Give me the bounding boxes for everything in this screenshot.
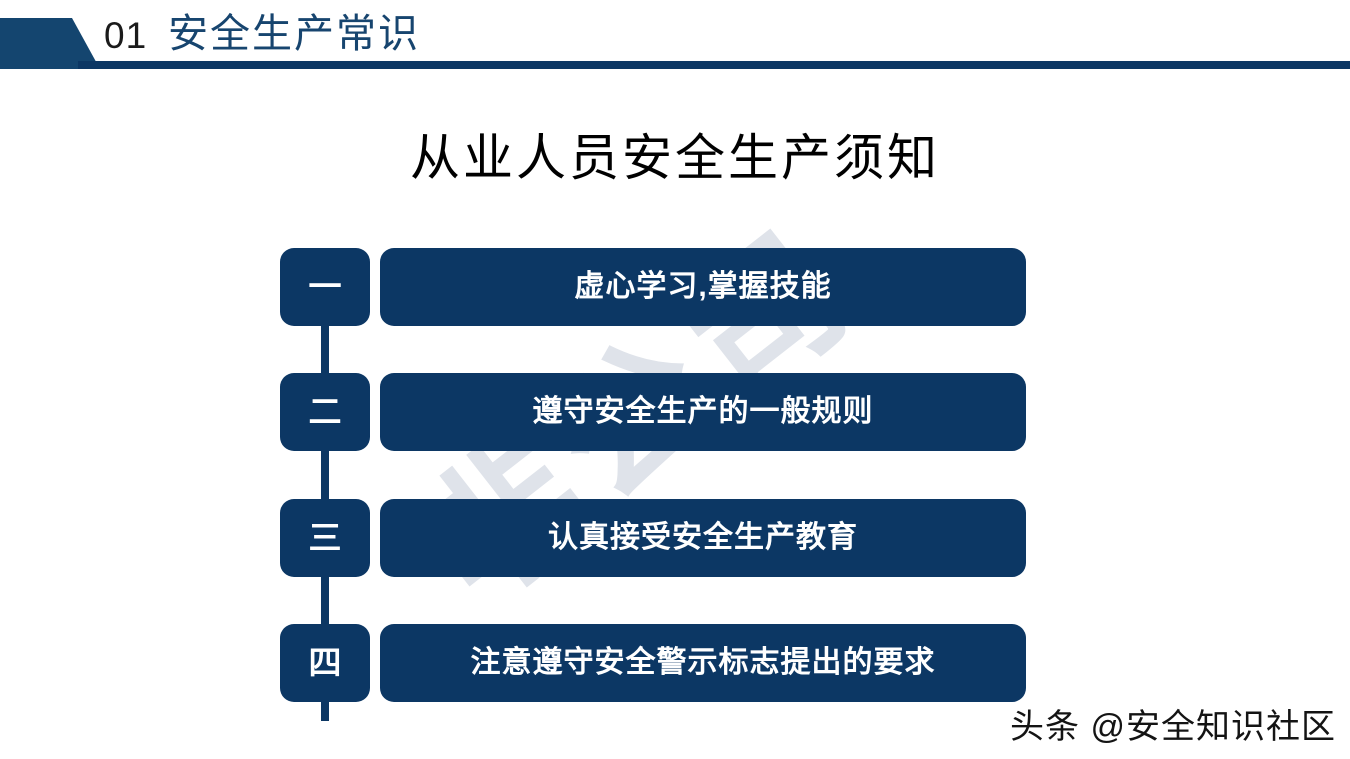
list-item[interactable]: 三 认真接受安全生产教育 bbox=[280, 499, 1026, 577]
list-item-index-badge: 一 bbox=[280, 248, 370, 326]
header-divider-rule bbox=[78, 61, 1350, 69]
header-section-title: 安全生产常识 bbox=[168, 8, 420, 60]
list-item-index-badge: 四 bbox=[280, 624, 370, 702]
connector-line-3 bbox=[321, 569, 329, 631]
connector-line-2 bbox=[321, 444, 329, 506]
slide: 01 安全生产常识 从业人员安全生产须知 非公司 一 虚心学习,掌握技能 二 遵… bbox=[0, 0, 1350, 759]
list-item-index-badge: 三 bbox=[280, 499, 370, 577]
page-title: 从业人员安全生产须知 bbox=[0, 126, 1350, 190]
list-item[interactable]: 一 虚心学习,掌握技能 bbox=[280, 248, 1026, 326]
list-item-label: 注意遵守安全警示标志提出的要求 bbox=[380, 624, 1026, 702]
footer-attribution: 头条 @安全知识社区 bbox=[1010, 704, 1336, 750]
list-item-label: 认真接受安全生产教育 bbox=[380, 499, 1026, 577]
list-item-label: 虚心学习,掌握技能 bbox=[380, 248, 1026, 326]
header-section-number: 01 bbox=[104, 12, 147, 60]
slide-header: 01 安全生产常识 bbox=[0, 0, 1350, 80]
connector-line-1 bbox=[321, 318, 329, 380]
list-item-label: 遵守安全生产的一般规则 bbox=[380, 373, 1026, 451]
list-item[interactable]: 四 注意遵守安全警示标志提出的要求 bbox=[280, 624, 1026, 702]
list-item-index-badge: 二 bbox=[280, 373, 370, 451]
numbered-list: 一 虚心学习,掌握技能 二 遵守安全生产的一般规则 三 认真接受安全生产教育 四… bbox=[280, 248, 1026, 700]
list-item[interactable]: 二 遵守安全生产的一般规则 bbox=[280, 373, 1026, 451]
